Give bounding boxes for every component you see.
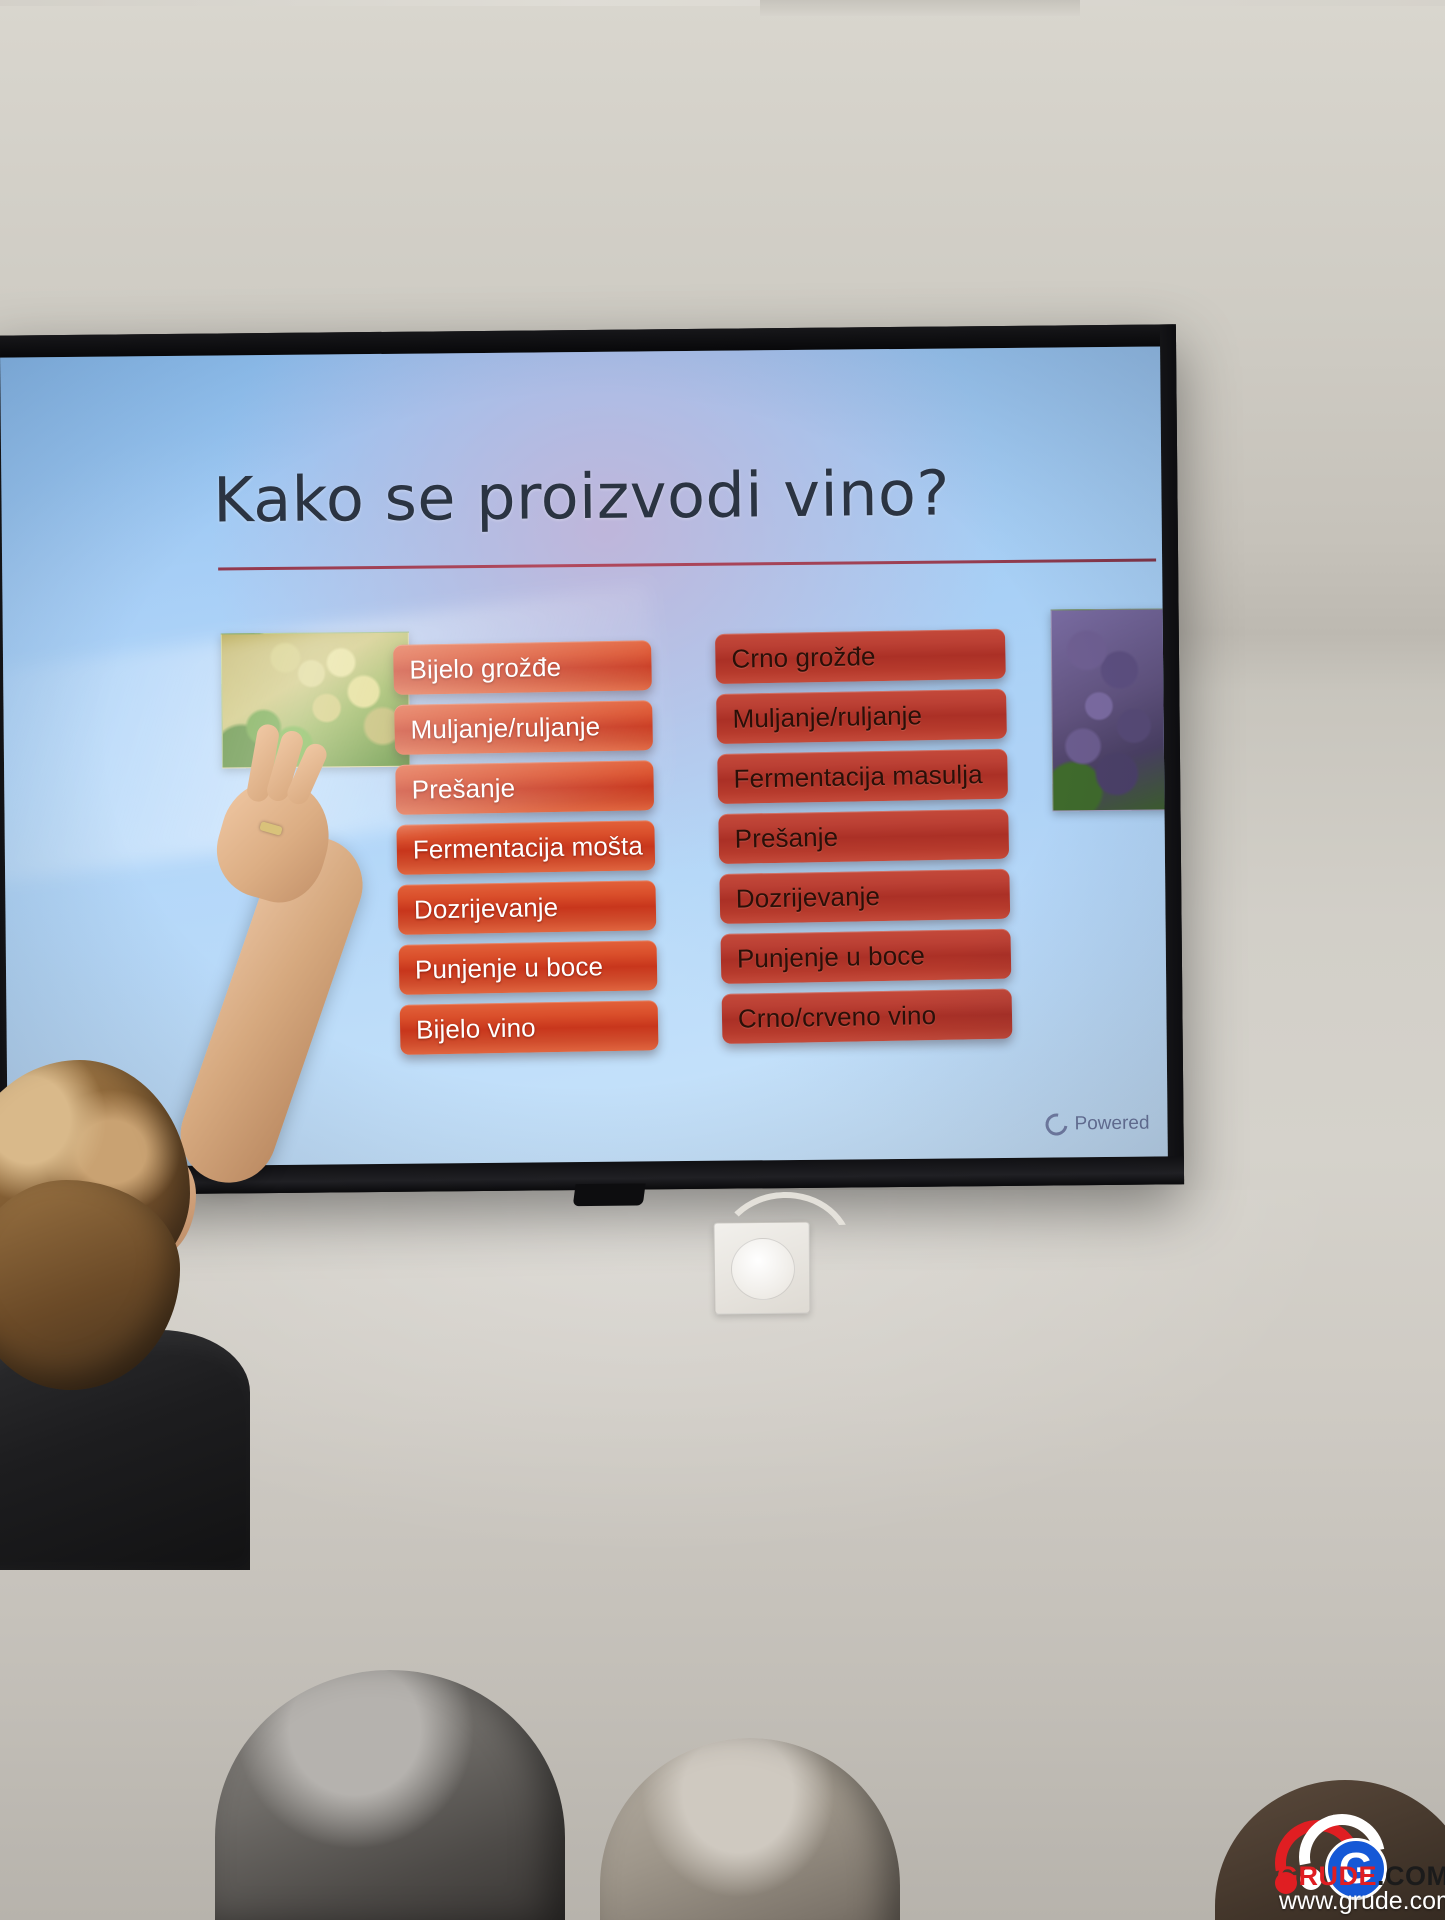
process-step[interactable]: Fermentacija masulja bbox=[717, 749, 1008, 804]
process-step[interactable]: Bijelo vino bbox=[400, 1000, 659, 1055]
process-step[interactable]: Muljanje/ruljanje bbox=[394, 700, 653, 755]
process-step[interactable]: Prešanje bbox=[395, 760, 654, 815]
presenter-pointing-at-screen bbox=[0, 1030, 290, 1530]
ceiling-panel bbox=[760, 0, 1080, 16]
process-step[interactable]: Crno grožđe bbox=[715, 629, 1006, 684]
logo-url: www.grude.com bbox=[1279, 1887, 1445, 1916]
powered-by-watermark: Powered bbox=[1045, 1113, 1149, 1136]
process-step[interactable]: Dozrijevanje bbox=[719, 869, 1010, 924]
process-step[interactable]: Bijelo grožđe bbox=[393, 640, 652, 695]
tv-mount-notch bbox=[573, 1183, 646, 1206]
dark-grapes-photo bbox=[1051, 608, 1168, 811]
wall-socket-inner bbox=[731, 1238, 796, 1301]
process-step[interactable]: Crno/crveno vino bbox=[722, 989, 1013, 1044]
red-wine-process-column: Crno grožđe Muljanje/ruljanje Fermentaci… bbox=[715, 629, 1013, 1054]
white-wine-process-column: Bijelo grožđe Muljanje/ruljanje Prešanje… bbox=[393, 640, 659, 1065]
ceiling-edge bbox=[0, 0, 1445, 6]
process-step[interactable]: Punjenje u boce bbox=[399, 940, 658, 995]
process-step[interactable]: Dozrijevanje bbox=[397, 880, 656, 935]
circular-swirl-icon bbox=[1041, 1109, 1072, 1140]
process-step[interactable]: Fermentacija mošta bbox=[396, 820, 655, 875]
powered-by-label: Powered bbox=[1074, 1113, 1149, 1136]
wall-socket bbox=[714, 1221, 811, 1314]
title-underline-rule bbox=[218, 559, 1156, 571]
process-step[interactable]: Prešanje bbox=[718, 809, 1009, 864]
grude-watermark-logo[interactable]: G GRUDE.COM www.grude.com bbox=[1269, 1802, 1441, 1918]
process-step[interactable]: Punjenje u boce bbox=[720, 929, 1011, 984]
slide-title: Kako se proizvodi vino? bbox=[1, 454, 1162, 538]
process-step[interactable]: Muljanje/ruljanje bbox=[716, 689, 1007, 744]
